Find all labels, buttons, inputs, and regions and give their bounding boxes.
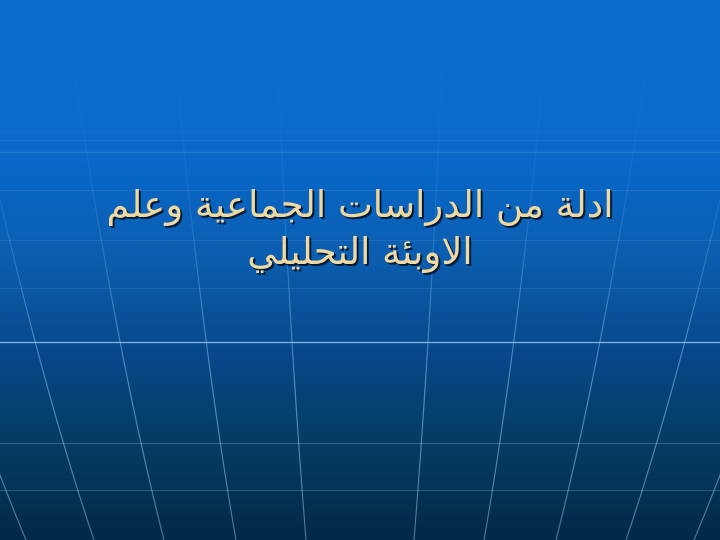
slide-title-line-1: ادلة من الدراسات الجماعية وعلم [46,181,674,228]
slide-title-line-2: الاوبئة التحليلي [46,228,674,275]
slide-title-block[interactable]: ادلة من الدراسات الجماعية وعلم الاوبئة ا… [0,181,720,275]
presentation-slide: ادلة من الدراسات الجماعية وعلم الاوبئة ا… [0,0,720,540]
